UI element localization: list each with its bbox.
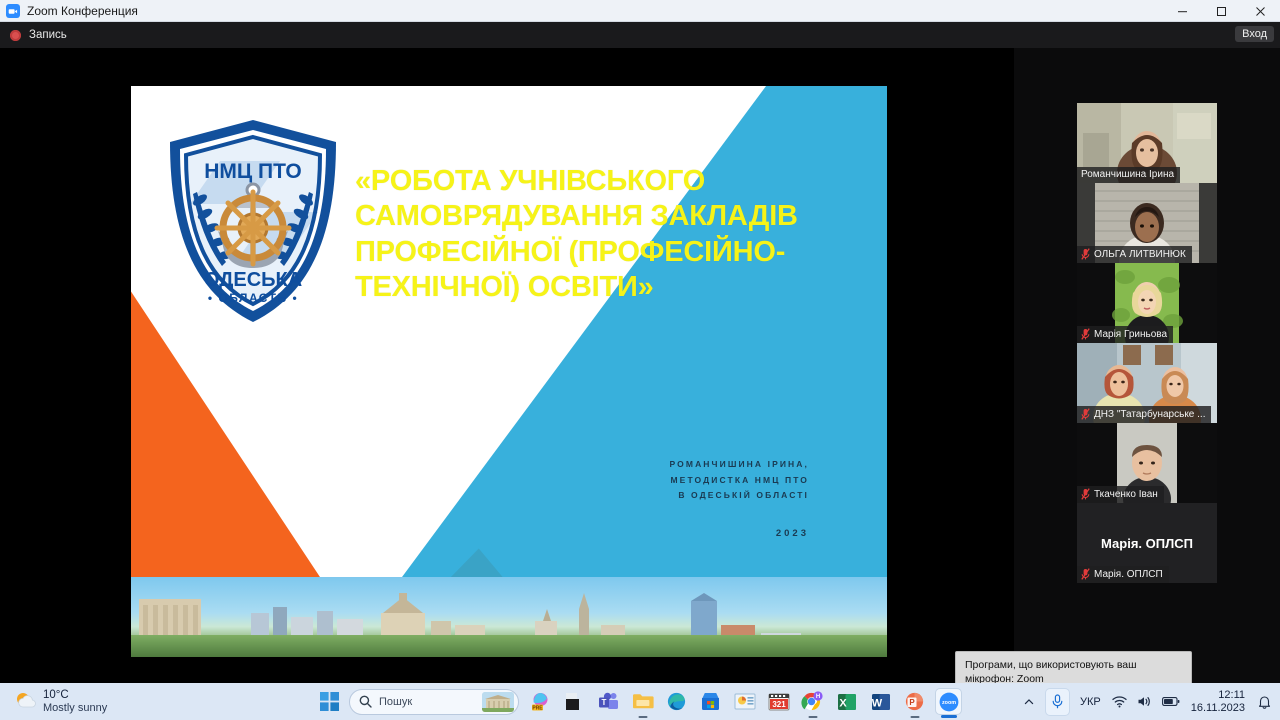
file-explorer-icon[interactable] [630,689,655,714]
ship-wheel-icon [217,192,289,264]
odesa-cityscape-banner [131,577,887,657]
nmc-pto-logo: НМЦ ПТО [160,116,346,328]
windows-start-icon[interactable] [319,691,340,712]
microsoft-word-icon[interactable]: W [868,689,893,714]
taskbar-center-group: Пошук PRE [319,689,961,715]
svg-text:zoom: zoom [941,700,955,706]
recording-dot-icon [10,30,21,41]
participant-tile[interactable]: ОЛЬГА ЛИТВИНЮК [1077,183,1217,263]
chevron-up-icon[interactable] [1021,689,1037,715]
window-controls [1163,0,1280,22]
microsoft-excel-icon[interactable]: X [834,689,859,714]
system-tray: УКР 12:11 16.11.2023 [1021,689,1272,715]
file-explorer-dark-icon[interactable] [562,689,587,714]
weather-condition: Mostly sunny [43,702,107,715]
svg-text:T: T [602,698,607,707]
shared-screen-stage[interactable]: НМЦ ПТО [0,48,1014,683]
maximize-icon[interactable] [1202,0,1241,22]
svg-text:H: H [816,694,820,700]
svg-text:PRE: PRE [532,705,543,711]
slide-subtitle-line-3: В ОДЕСЬКІЙ ОБЛАСТІ [670,488,809,504]
participant-name-bar: ДНЗ "Татарбунарське ... [1077,406,1211,423]
photos-icon[interactable] [732,689,757,714]
participant-tile[interactable]: Марія. ОПЛСП Марія. ОПЛСП [1077,503,1217,583]
windows-taskbar[interactable]: 10°C Mostly sunny Пошук [0,683,1280,720]
logo-bottom-text: ОДЕСЬКА [204,269,302,291]
microsoft-powerpoint-icon[interactable]: P [902,689,927,714]
participant-name-bar: Марія Гриньова [1077,326,1173,343]
svg-text:X: X [839,697,847,709]
slide-title: «РОБОТА УЧНІВСЬКОГО САМОВРЯДУВАННЯ ЗАКЛА… [355,164,855,306]
slide-subtitle: РОМАНЧИШИНА ІРИНА, МЕТОДИСТКА НМЦ ПТО В … [670,457,809,504]
clock-time: 12:11 [1191,689,1245,702]
participant-name: ОЛЬГА ЛИТВИНЮК [1094,249,1186,260]
recording-label: Запись [29,29,67,41]
participant-name-bar: Марія. ОПЛСП [1077,566,1169,583]
participant-tile[interactable]: Ткаченко Іван [1077,423,1217,503]
participant-name: Романчишина Ірина [1081,169,1174,180]
logo-top-text: НМЦ ПТО [204,160,302,183]
recording-bar: Запись Вход [0,22,1280,48]
presentation-slide: НМЦ ПТО [131,86,887,657]
slide-subtitle-line-1: РОМАНЧИШИНА ІРИНА, [670,457,809,473]
participant-name: Ткаченко Іван [1094,489,1158,500]
sun-cloud-icon [14,691,36,711]
search-placeholder: Пошук [379,696,482,708]
microsoft-edge-icon[interactable] [664,689,689,714]
slide-subtitle-line-2: МЕТОДИСТКА НМЦ ПТО [670,473,809,489]
participant-name: ДНЗ "Татарбунарське ... [1094,409,1205,420]
search-input[interactable]: Пошук [349,689,519,715]
weather-widget[interactable]: 10°C Mostly sunny [14,689,164,715]
participant-name: Марія Гриньова [1094,329,1167,340]
video-editor-321-icon[interactable]: 321 [766,689,791,714]
participant-tile[interactable]: Романчишина Ірина [1077,103,1217,183]
close-icon[interactable] [1241,0,1280,22]
participant-tile[interactable]: Марія Гриньова [1077,263,1217,343]
landmark-thumbnail[interactable] [482,692,514,712]
copilot-pro-icon[interactable]: PRE [528,689,553,714]
clock-date: 16.11.2023 [1191,702,1245,715]
window-title: Zoom Конференция [27,4,138,18]
bell-icon[interactable] [1256,689,1272,715]
muted-microphone-icon [1081,248,1090,260]
microphone-icon[interactable] [1046,689,1069,715]
participant-filmstrip[interactable]: Романчишина Ірина [1014,48,1280,683]
battery-icon[interactable] [1162,689,1180,715]
wifi-icon[interactable] [1112,689,1128,715]
keyboard-language-indicator[interactable]: УКР [1078,689,1103,715]
svg-text:P: P [909,698,915,707]
zoom-logo-icon [6,4,20,18]
google-chrome-icon[interactable]: H [800,689,825,714]
participant-tile[interactable]: ДНЗ "Татарбунарське ... [1077,343,1217,423]
clock[interactable]: 12:11 16.11.2023 [1189,689,1247,714]
cityscape-foliage [131,635,887,657]
svg-text:W: W [871,697,882,709]
logo-sub-text: • ОБЛАСТЬ • [208,291,298,305]
slide-year: 2023 [776,528,809,539]
minimize-icon[interactable] [1163,0,1202,22]
participant-name-bar: Ткаченко Іван [1077,486,1164,503]
weather-temperature: 10°C [43,689,107,702]
participant-name-bar: Романчишина Ірина [1077,167,1180,183]
sign-in-button[interactable]: Вход [1235,26,1274,42]
svg-text:321: 321 [772,700,786,709]
participant-name-bar: ОЛЬГА ЛИТВИНЮК [1077,246,1192,263]
muted-microphone-icon [1081,488,1090,500]
participant-name: Марія. ОПЛСП [1094,569,1163,580]
muted-microphone-icon [1081,568,1090,580]
search-icon [359,695,372,708]
zoom-app-icon[interactable]: zoom [936,689,961,714]
muted-microphone-icon [1081,328,1090,340]
zoom-meeting-window: Запись Вход [0,22,1280,683]
volume-icon[interactable] [1137,689,1153,715]
window-title-bar: Zoom Конференция [0,0,1280,22]
muted-microphone-icon [1081,408,1090,420]
microsoft-teams-icon[interactable]: T [596,689,621,714]
microsoft-store-icon[interactable] [698,689,723,714]
